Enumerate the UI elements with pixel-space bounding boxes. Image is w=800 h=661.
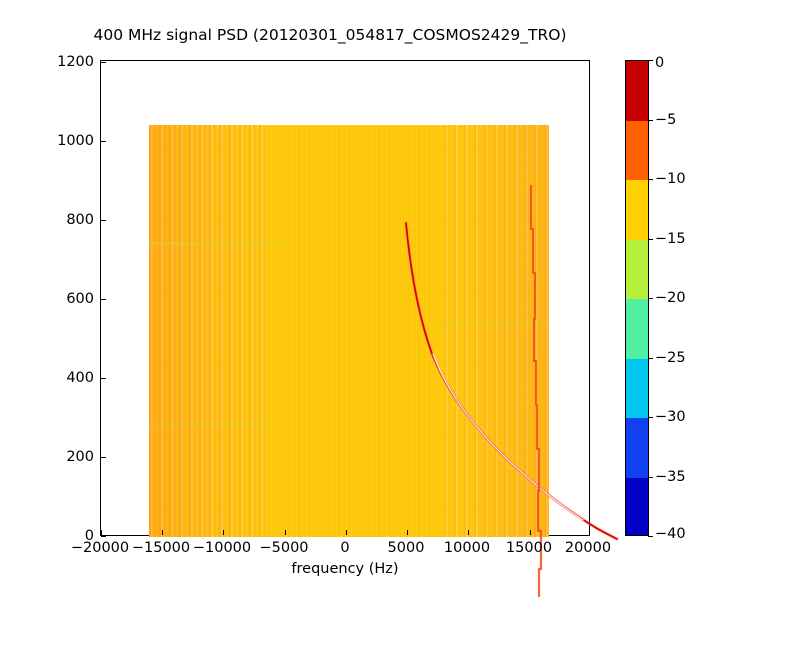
colorbar-tick-label: −40 (655, 526, 686, 542)
colorbar (625, 60, 649, 536)
y-tick-label: 800 (56, 212, 94, 228)
colorbar-tick-label: −10 (655, 171, 686, 187)
colorbar-tick (648, 477, 653, 478)
x-axis-tick (407, 530, 408, 535)
colorbar-band (626, 359, 648, 419)
colorbar-tick (648, 120, 653, 121)
x-tick-label: 0 (340, 540, 349, 556)
spectrogram-streak (441, 323, 545, 324)
colorbar-tick-label: −30 (655, 409, 686, 425)
y-tick-label: 1200 (48, 54, 94, 70)
x-tick-label: 5000 (388, 540, 425, 556)
x-axis-tick (468, 530, 469, 535)
x-tick-label: 10000 (444, 540, 490, 556)
spectrogram-image (149, 125, 549, 537)
spectrogram-left-noise-band (149, 125, 269, 537)
y-axis-tick (101, 536, 106, 537)
colorbar-tick (648, 179, 653, 180)
y-axis-label: time (s) (0, 250, 1, 306)
colorbar-band (626, 299, 648, 359)
figure-canvas: 400 MHz signal PSD (20120301_054817_COSM… (0, 0, 800, 600)
y-tick-label: 1000 (48, 133, 94, 149)
x-axis-label: frequency (Hz) (100, 561, 590, 577)
colorbar-band (626, 180, 648, 240)
y-axis-tick (101, 378, 106, 379)
y-tick-label: 0 (56, 528, 94, 544)
spectrogram-right-noise-band (441, 125, 549, 537)
y-axis-tick (101, 299, 106, 300)
colorbar-tick (648, 358, 653, 359)
spectrogram-streak (149, 425, 267, 426)
colorbar-tick (648, 239, 653, 240)
x-axis-tick (101, 530, 102, 535)
x-axis-tick (589, 530, 590, 535)
colorbar-tick-label: −20 (655, 290, 686, 306)
x-axis-tick (346, 530, 347, 535)
colorbar-band (626, 478, 648, 537)
colorbar-tick (648, 298, 653, 299)
y-axis-tick (101, 62, 106, 63)
colorbar-tick (648, 60, 653, 61)
colorbar-tick (648, 536, 653, 537)
colorbar-tick (648, 417, 653, 418)
x-axis-tick (530, 530, 531, 535)
colorbar-band (626, 418, 648, 478)
colorbar-tick-label: −25 (655, 350, 686, 366)
x-tick-label: −15000 (132, 540, 190, 556)
y-tick-label: 200 (56, 449, 94, 465)
x-axis-tick (285, 530, 286, 535)
x-tick-label: 20000 (565, 540, 611, 556)
chart-title: 400 MHz signal PSD (20120301_054817_COSM… (0, 26, 660, 44)
y-axis-tick (101, 141, 106, 142)
colorbar-band (626, 61, 648, 121)
y-tick-label: 400 (56, 370, 94, 386)
plot-axes-frame (100, 60, 590, 536)
colorbar-band (626, 240, 648, 300)
x-axis-tick (223, 530, 224, 535)
spectrogram-streak (149, 243, 279, 244)
x-axis-tick (162, 530, 163, 535)
colorbar-tick-label: 0 (655, 55, 664, 71)
x-tick-label: −10000 (193, 540, 251, 556)
y-axis-tick (101, 220, 106, 221)
y-axis-tick (101, 457, 106, 458)
x-tick-label: −5000 (259, 540, 308, 556)
x-tick-label: 15000 (506, 540, 552, 556)
colorbar-tick-label: −15 (655, 231, 686, 247)
colorbar-tick-label: −5 (655, 112, 676, 128)
colorbar-tick-label: −35 (655, 469, 686, 485)
y-tick-label: 600 (56, 291, 94, 307)
colorbar-band (626, 121, 648, 181)
